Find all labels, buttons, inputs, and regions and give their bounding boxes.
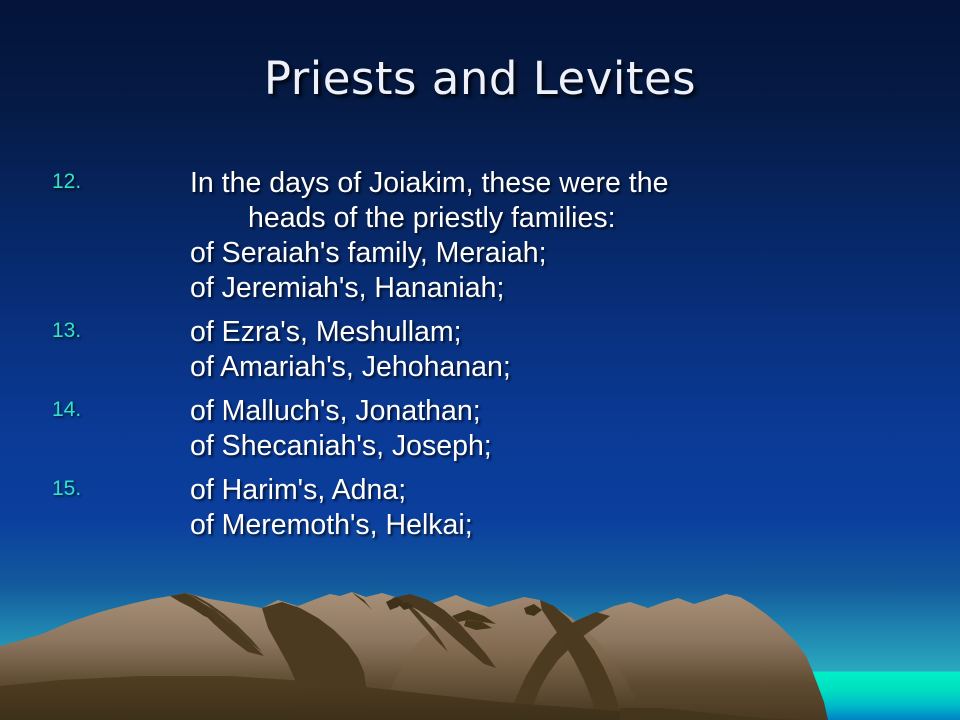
verse-text-line: of Harim's, Adna;: [190, 473, 960, 508]
verse-text-line: of Ezra's, Meshullam;: [190, 315, 960, 350]
verse-text-line: of Meremoth's, Helkai;: [190, 508, 960, 543]
verse-text-line: of Shecaniah's, Joseph;: [190, 429, 960, 464]
verse-number: 12.: [52, 171, 112, 192]
verse-item: 13.of Ezra's, Meshullam;of Amariah's, Je…: [0, 315, 960, 385]
page-title: Priests and Levites: [0, 52, 960, 105]
verse-text-line: of Jeremiah's, Hananiah;: [190, 271, 960, 306]
verse-item: 14.of Malluch's, Jonathan;of Shecaniah's…: [0, 394, 960, 464]
verse-text-line: of Malluch's, Jonathan;: [190, 394, 960, 429]
verse-text-block: In the days of Joiakim, these were thehe…: [190, 166, 960, 306]
verse-item: 12.In the days of Joiakim, these were th…: [0, 166, 960, 306]
verse-item: 15.of Harim's, Adna;of Meremoth's, Helka…: [0, 473, 960, 543]
slide-canvas: Priests and Levites 12.In the days of Jo…: [0, 0, 960, 720]
verse-text-line: of Seraiah's family, Meraiah;: [190, 236, 960, 271]
verse-number: 15.: [52, 478, 112, 499]
verse-text-line: of Amariah's, Jehohanan;: [190, 350, 960, 385]
verse-text-block: of Ezra's, Meshullam;of Amariah's, Jehoh…: [190, 315, 960, 385]
verse-list: 12.In the days of Joiakim, these were th…: [0, 166, 960, 552]
mountain-silhouette-graphic: [0, 590, 960, 720]
verse-text-line: heads of the priestly families:: [190, 201, 960, 236]
verse-text-block: of Harim's, Adna;of Meremoth's, Helkai;: [190, 473, 960, 543]
verse-number: 13.: [52, 320, 112, 341]
verse-number: 14.: [52, 399, 112, 420]
verse-text-line: In the days of Joiakim, these were the: [190, 166, 960, 201]
verse-text-block: of Malluch's, Jonathan;of Shecaniah's, J…: [190, 394, 960, 464]
